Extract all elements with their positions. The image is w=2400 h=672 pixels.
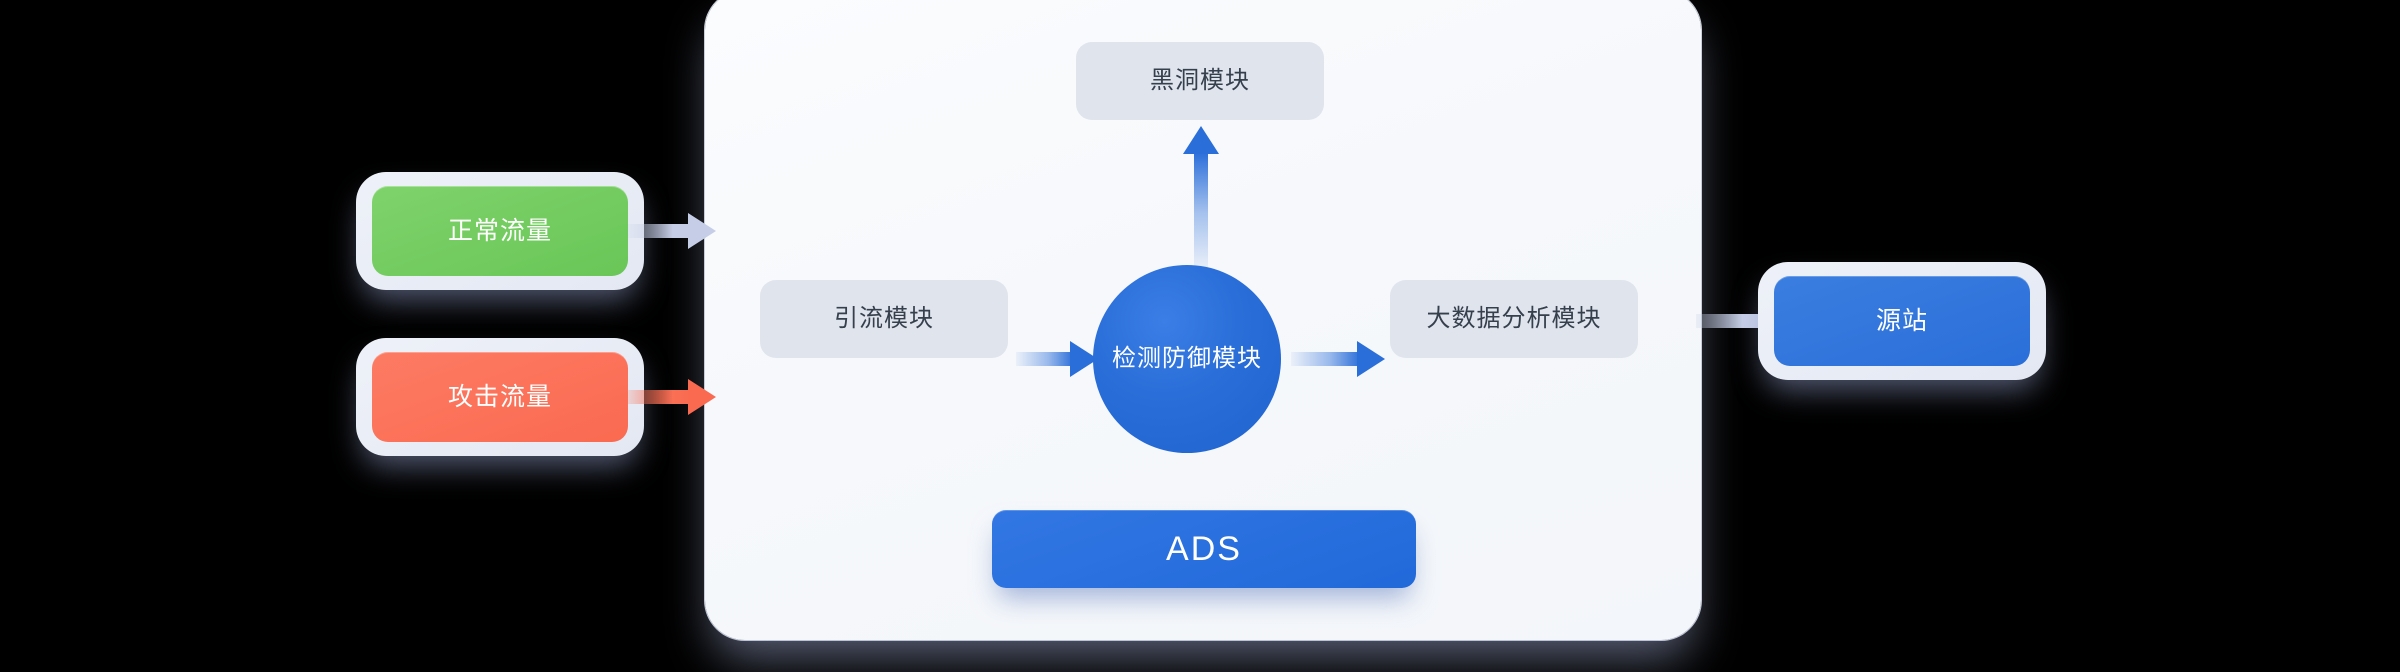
attack-traffic-node[interactable]: 攻击流量: [372, 352, 628, 442]
divert-to-detect-arrow-icon: [1016, 341, 1100, 377]
diagram-canvas: 正常流量 攻击流量 黑洞模块 引流模块 检测防御模块 大数据分析模块 ADS 源…: [0, 0, 2400, 672]
arrow-shaft: [1291, 352, 1361, 366]
attack-traffic-arrow-icon: [628, 379, 716, 415]
normal-traffic-node[interactable]: 正常流量: [372, 186, 628, 276]
arrow-shaft: [1696, 314, 1762, 328]
blackhole-module-node[interactable]: 黑洞模块: [1076, 42, 1324, 120]
arrow-shaft: [1016, 352, 1074, 366]
arrow-head: [688, 379, 716, 415]
detect-to-bigdata-arrow-icon: [1291, 341, 1395, 377]
arrow-shaft: [1194, 152, 1208, 274]
origin-site-node[interactable]: 源站: [1774, 276, 2030, 366]
normal-traffic-arrow-icon: [628, 213, 716, 249]
arrow-head: [1183, 126, 1219, 154]
blackhole-up-arrow-icon: [1183, 126, 1219, 274]
arrow-shaft: [628, 390, 692, 404]
arrow-head: [1357, 341, 1385, 377]
ads-button[interactable]: ADS: [992, 510, 1416, 588]
divert-module-node[interactable]: 引流模块: [760, 280, 1008, 358]
detect-defense-module-node[interactable]: 检测防御模块: [1093, 265, 1281, 453]
bigdata-module-node[interactable]: 大数据分析模块: [1390, 280, 1638, 358]
arrow-head: [688, 213, 716, 249]
arrow-shaft: [628, 224, 692, 238]
